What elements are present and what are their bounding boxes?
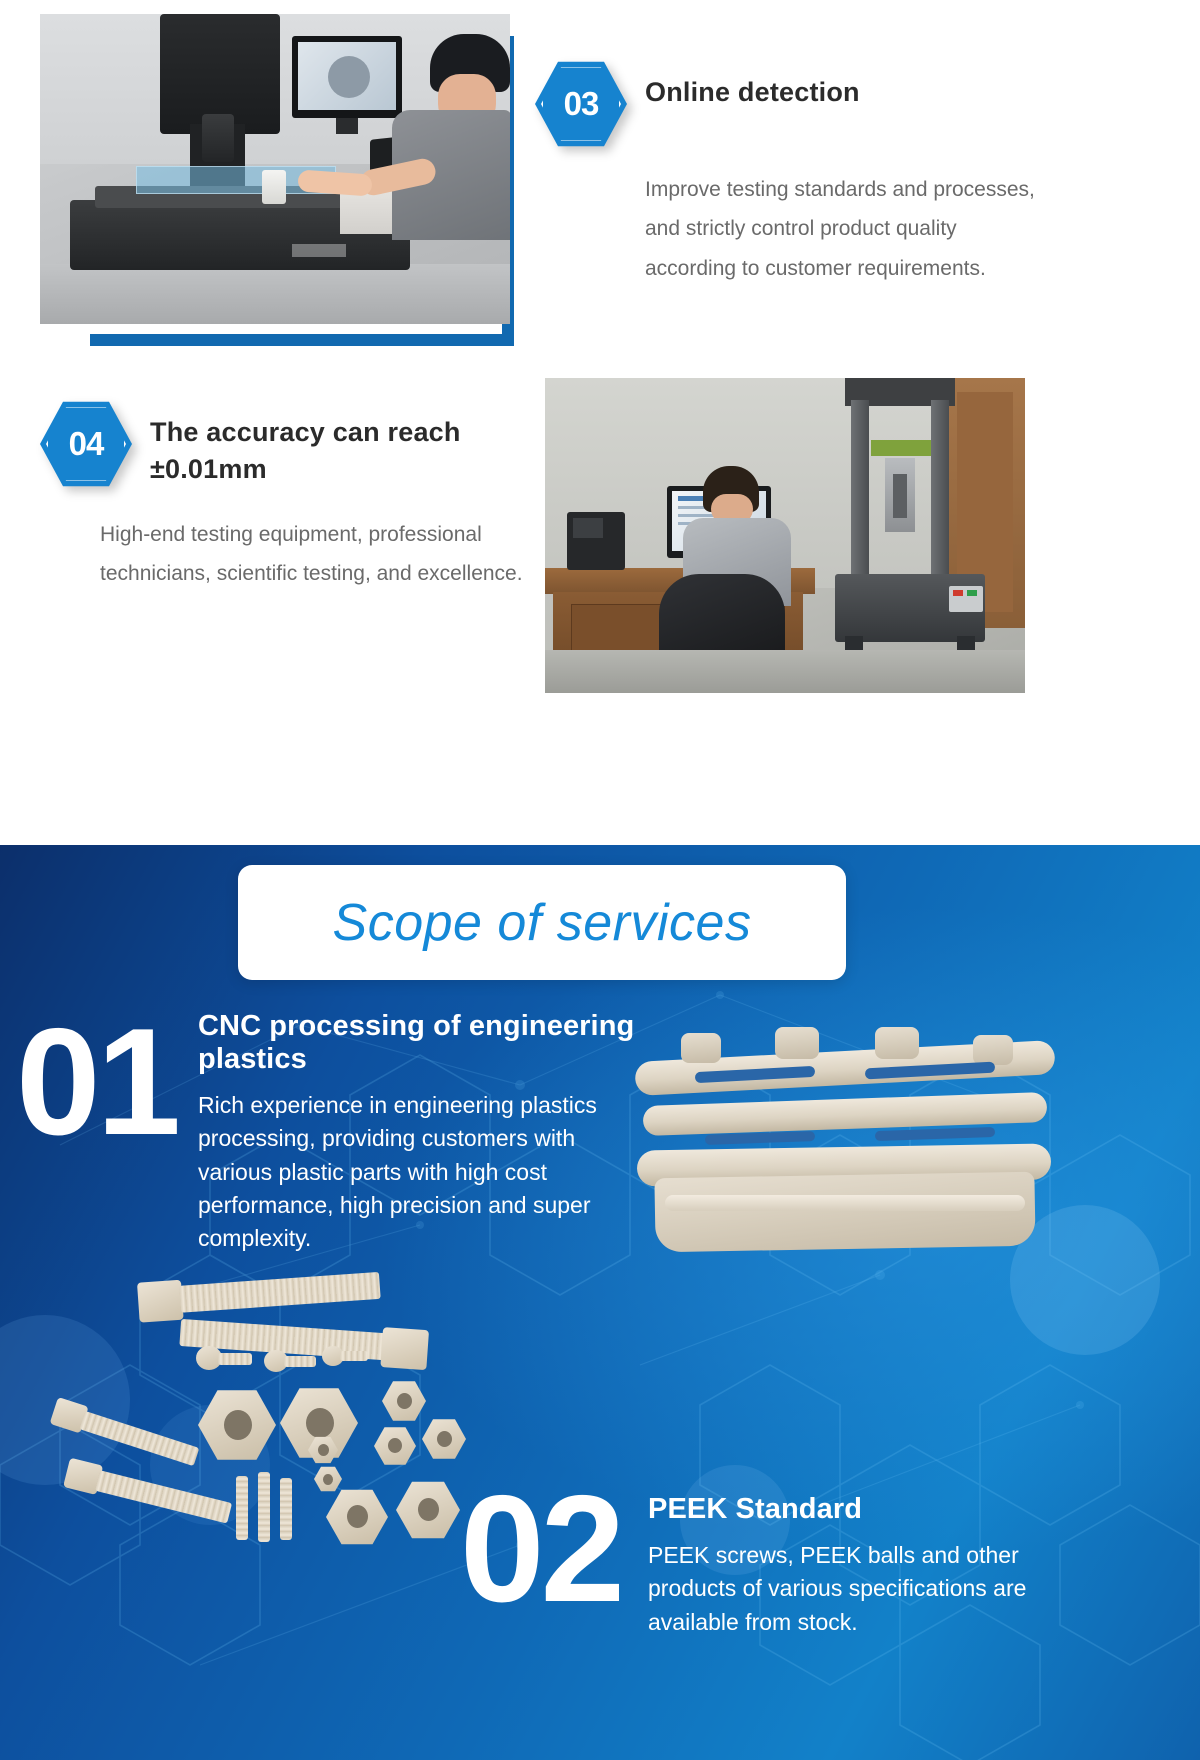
- tensile-testing-machine-photo: [545, 378, 1025, 693]
- features-section: 03 Online detection Improve testing stan…: [0, 0, 1200, 845]
- feature-03-photo-frame: [40, 14, 510, 324]
- service-01-number: 01: [16, 1020, 177, 1145]
- stud: [236, 1476, 248, 1540]
- video-measuring-machine-photo: [40, 14, 510, 324]
- scope-of-services-title: Scope of services: [333, 893, 752, 953]
- feature-block-03: 03 Online detection Improve testing stan…: [535, 60, 1055, 288]
- peek-screws-and-nuts-photo: [30, 1260, 510, 1560]
- scope-of-services-section: Scope of services 01 CNC processing of e…: [0, 845, 1200, 1760]
- feature-04-number: 04: [40, 400, 132, 488]
- frame-accent-horizontal: [90, 334, 514, 346]
- screw: [264, 1350, 320, 1378]
- hexagon-badge-icon: 03: [535, 60, 627, 148]
- hexagon-badge-icon: 04: [40, 400, 132, 488]
- service-01-title: CNC processing of engineering plastics: [198, 1010, 648, 1076]
- scope-of-services-title-card: Scope of services: [238, 865, 846, 980]
- service-02-body: PEEK screws, PEEK balls and other produc…: [648, 1539, 1060, 1639]
- feature-04-body: High-end testing equipment, professional…: [100, 515, 540, 594]
- feature-block-04: 04 The accuracy can reach ±0.01mm High-e…: [40, 400, 540, 593]
- stud: [258, 1472, 270, 1542]
- screw: [196, 1346, 256, 1376]
- stud: [280, 1478, 292, 1540]
- feature-04-header: 04 The accuracy can reach ±0.01mm: [40, 400, 540, 489]
- service-01-body: Rich experience in engineering plastics …: [198, 1089, 648, 1256]
- feature-03-header: 03 Online detection: [535, 60, 1055, 148]
- feature-04-title: The accuracy can reach ±0.01mm: [150, 400, 490, 489]
- service-02-text: PEEK Standard PEEK screws, PEEK balls an…: [648, 1493, 1060, 1639]
- feature-03-body: Improve testing standards and processes,…: [645, 170, 1045, 288]
- machined-peek-part-photo: [625, 1025, 1065, 1280]
- bolt: [62, 1455, 245, 1533]
- service-01-text: CNC processing of engineering plastics R…: [198, 1010, 648, 1256]
- service-02-number: 02: [460, 1487, 621, 1612]
- service-02-title: PEEK Standard: [648, 1493, 1060, 1526]
- feature-04-photo-frame: [545, 378, 1025, 693]
- screw: [322, 1346, 372, 1372]
- feature-03-number: 03: [535, 60, 627, 148]
- feature-03-title: Online detection: [645, 60, 860, 111]
